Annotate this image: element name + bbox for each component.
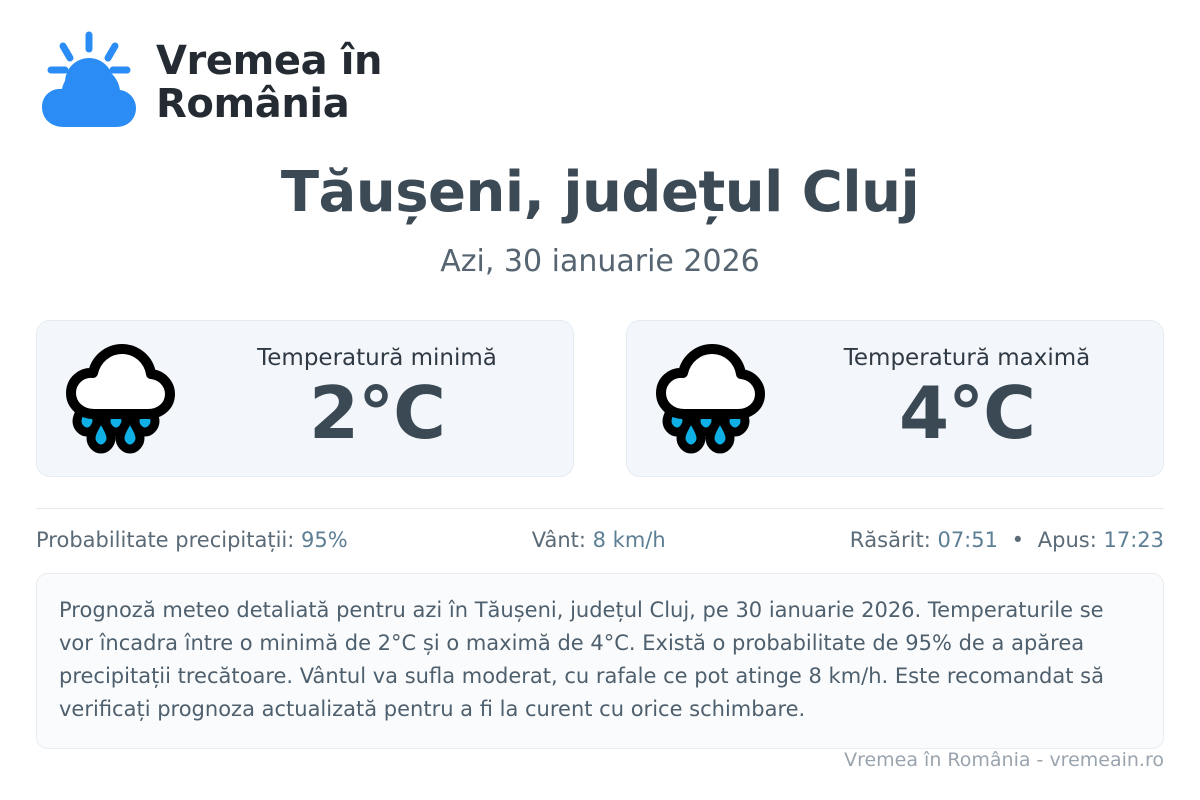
card-max-temperature-info: Temperatură maximă 4°C [797,345,1137,452]
stat-precipitation-value: 95% [301,528,348,552]
card-min-temperature-info: Temperatură minimă 2°C [207,345,547,452]
card-min-temperature-value: 2°C [309,376,445,452]
forecast-description-text: Prognoză meteo detaliată pentru azi în T… [59,594,1141,726]
stat-sunset-value: 17:23 [1103,528,1164,552]
card-min-temperature: Temperatură minimă 2°C [36,320,574,477]
weather-page: Vremea în România Tăușeni, județul Cluj … [0,0,1200,800]
title-block: Tăușeni, județul Cluj Azi, 30 ianuarie 2… [36,162,1164,280]
forecast-description-box: Prognoză meteo detaliată pentru azi în T… [36,573,1164,749]
stat-precipitation-label: Probabilitate precipitații: [36,528,294,552]
card-max-temperature-value: 4°C [899,376,1035,452]
weather-stats-row: Probabilitate precipitații: 95% Vânt: 8 … [36,527,1164,555]
brand-name: Vremea în România [156,40,382,126]
card-min-temperature-label: Temperatură minimă [257,345,497,373]
page-title: Tăușeni, județul Cluj [36,162,1164,224]
card-max-temperature: Temperatură maximă 4°C [626,320,1164,477]
rain-cloud-icon [63,342,185,454]
stat-sunrise-label: Răsărit: [850,528,931,552]
section-divider [36,508,1164,509]
stat-wind-label: Vânt: [532,528,586,552]
stat-sunset-label: Apus: [1038,528,1097,552]
brand-header: Vremea în România [36,0,1164,118]
page-subtitle: Azi, 30 ianuarie 2026 [36,244,1164,280]
sun-behind-cloud-icon [36,31,140,135]
rain-cloud-icon [653,342,775,454]
stat-wind-value: 8 km/h [593,528,666,552]
stat-sunrise-value: 07:51 [937,528,998,552]
stat-wind: Vânt: 8 km/h [348,528,850,553]
bullet-separator-icon: • [1005,528,1031,552]
stat-precipitation: Probabilitate precipitații: 95% [36,528,348,553]
card-max-temperature-label: Temperatură maximă [844,345,1090,373]
stat-sun-times: Răsărit: 07:51 • Apus: 17:23 [850,528,1164,553]
footer-attribution: Vremea în România - vremeain.ro [844,749,1164,772]
temperature-cards: Temperatură minimă 2°C Temperatură maxim… [36,320,1164,477]
